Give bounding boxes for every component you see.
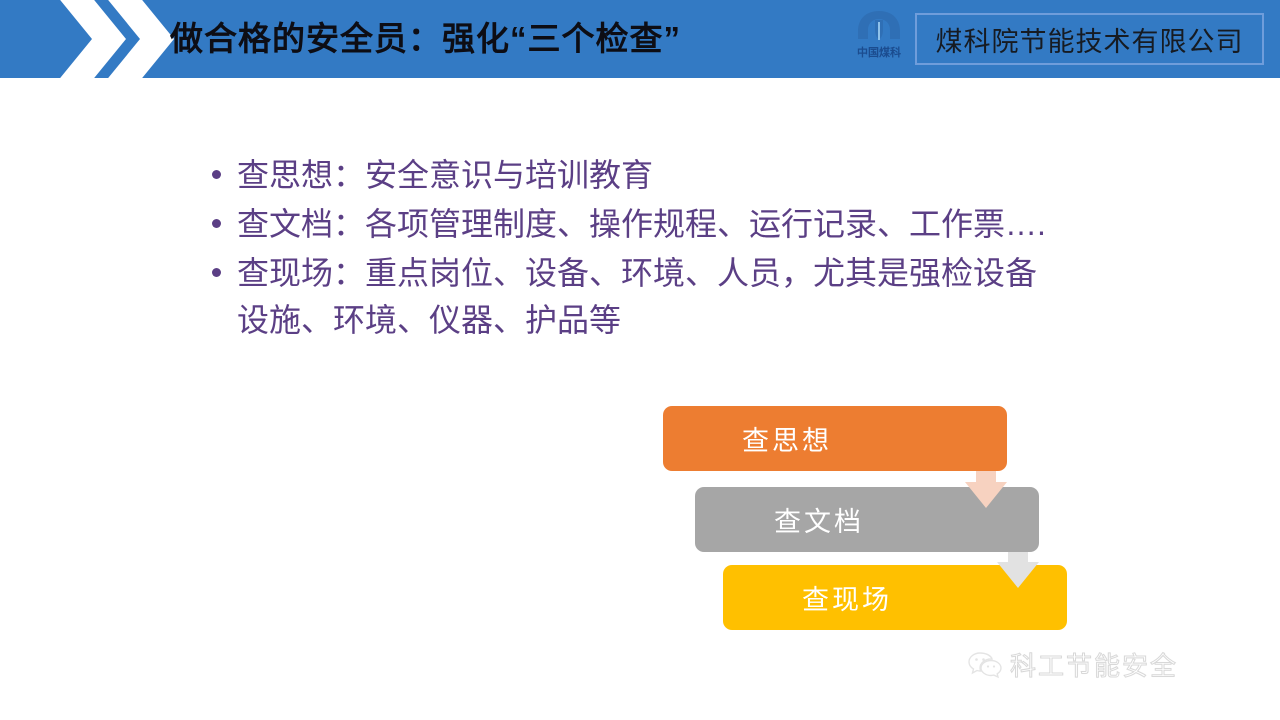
wechat-icon bbox=[968, 651, 1002, 679]
bullet-text: 查文档：各项管理制度、操作规程、运行记录、工作票…. bbox=[237, 201, 1062, 248]
list-item: 查文档：各项管理制度、操作规程、运行记录、工作票…. bbox=[212, 201, 1062, 248]
bullet-list: 查思想：安全意识与培训教育 查文档：各项管理制度、操作规程、运行记录、工作票….… bbox=[212, 152, 1062, 346]
step-box-cha-wen-dang[interactable]: 查文档 bbox=[695, 487, 1039, 552]
company-name: 煤科院节能技术有限公司 bbox=[936, 20, 1244, 59]
bullet-text: 查现场：重点岗位、设备、环境、人员，尤其是强检设备设施、环境、仪器、护品等 bbox=[237, 250, 1062, 344]
bullet-dot-icon bbox=[212, 268, 221, 277]
step-label: 查文档 bbox=[774, 500, 864, 539]
three-checks-diagram: 查思想 查文档 查现场 bbox=[0, 0, 1280, 720]
step-box-cha-si-xiang[interactable]: 查思想 bbox=[663, 406, 1007, 471]
watermark: 科工节能安全 bbox=[968, 646, 1178, 683]
watermark-text: 科工节能安全 bbox=[1010, 646, 1178, 683]
slide-header: 做合格的安全员：强化“三个检查” 中国煤科 煤科院节能技术有限公司 bbox=[0, 0, 1280, 78]
list-item: 查现场：重点岗位、设备、环境、人员，尤其是强检设备设施、环境、仪器、护品等 bbox=[212, 250, 1062, 344]
brand-logo: 中国煤科 bbox=[848, 8, 910, 70]
step-label: 查思想 bbox=[742, 419, 832, 458]
coal-science-emblem-icon bbox=[856, 10, 902, 42]
bullet-dot-icon bbox=[212, 170, 221, 179]
brand-logo-text: 中国煤科 bbox=[848, 44, 910, 60]
company-name-box: 煤科院节能技术有限公司 bbox=[915, 13, 1264, 65]
chevron-right-icon bbox=[48, 0, 178, 78]
page-title: 做合格的安全员：强化“三个检查” bbox=[170, 16, 681, 62]
step-box-cha-xian-chang[interactable]: 查现场 bbox=[723, 565, 1067, 630]
step-label: 查现场 bbox=[802, 578, 892, 617]
bullet-text: 查思想：安全意识与培训教育 bbox=[237, 152, 1062, 199]
list-item: 查思想：安全意识与培训教育 bbox=[212, 152, 1062, 199]
bullet-dot-icon bbox=[212, 219, 221, 228]
